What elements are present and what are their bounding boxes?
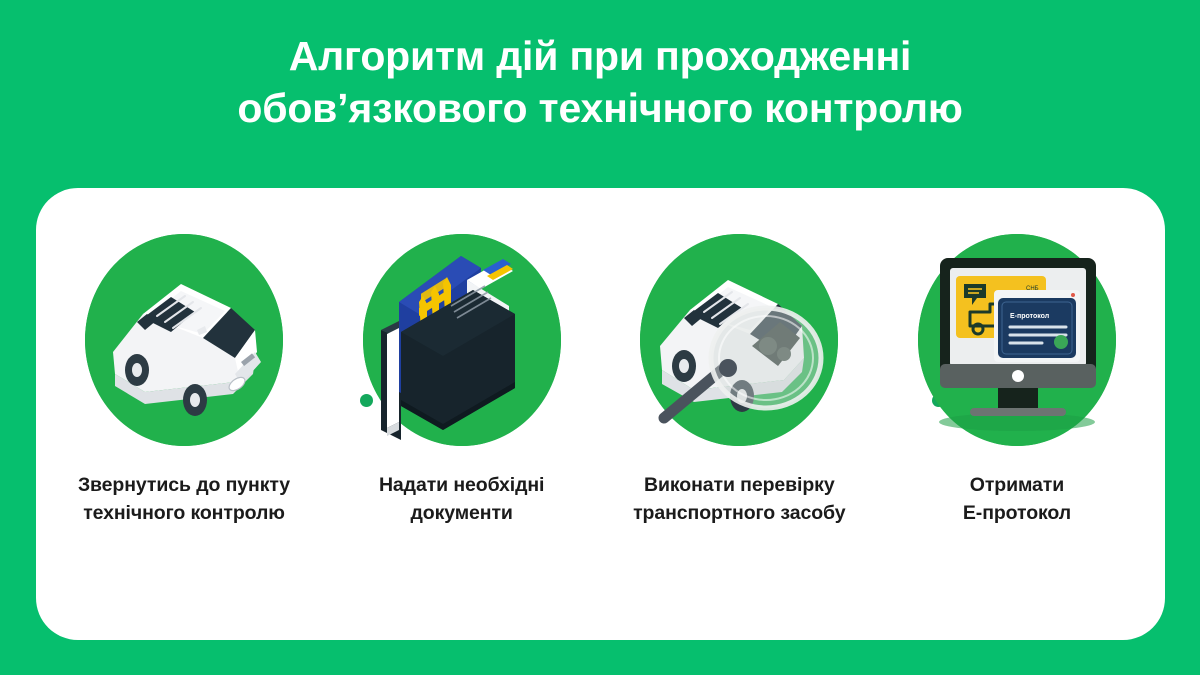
step-3-label: Виконати перевірку транспортного засобу <box>633 472 845 527</box>
step-2[interactable]: Надати необхідні документи <box>336 234 588 527</box>
step-1[interactable]: Звернутись до пункту технічного контролю <box>58 234 310 527</box>
documents-folder-icon <box>363 234 561 446</box>
page-title-line-1: Алгоритм дій при проходженні <box>0 30 1200 82</box>
page-title-line-2: обов’язкового технічного контролю <box>0 82 1200 134</box>
page-title: Алгоритм дій при проходженні обов’язково… <box>0 30 1200 134</box>
steps-container: Звернутись до пункту технічного контролю <box>36 188 1165 640</box>
step-4[interactable]: СНБ Е-протокол Отримати Е-протокол <box>891 234 1143 527</box>
step-4-label: Отримати Е-протокол <box>963 472 1071 527</box>
step-3[interactable]: Виконати перевірку транспортного засобу <box>613 234 865 527</box>
eprotocol-window-title: Е-протокол <box>1010 313 1049 320</box>
car-icon <box>85 234 283 446</box>
step-2-label: Надати необхідні документи <box>379 472 544 527</box>
car-inspection-magnifier-icon <box>640 234 838 446</box>
step-1-label: Звернутись до пункту технічного контролю <box>78 472 290 527</box>
monitor-eprotocol-icon: СНБ Е-протокол <box>918 234 1116 446</box>
